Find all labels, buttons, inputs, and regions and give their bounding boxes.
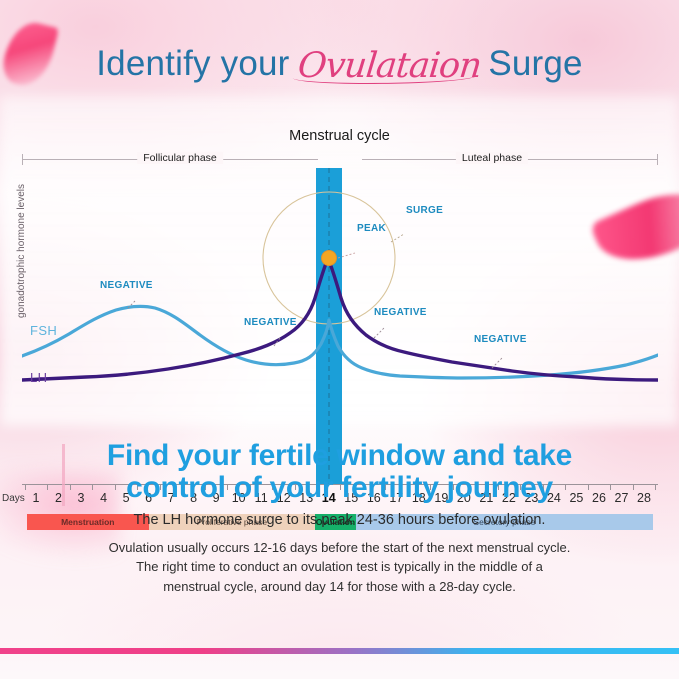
big-line-1: Find your fertile window and take bbox=[0, 440, 679, 472]
bottom-copy-block: Find your fertile window and take contro… bbox=[0, 440, 679, 596]
annotation-negative-4: NEGATIVE bbox=[474, 334, 527, 345]
phase-bracket-row: Follicular phase Luteal phase bbox=[22, 153, 658, 167]
big-line-2: control of your fertility journey bbox=[0, 472, 679, 504]
subtitle-primary: The LH hormone surge to its peak 24-36 h… bbox=[0, 512, 679, 528]
series-label-lh: LH bbox=[30, 370, 47, 385]
sub2-line-3: menstrual cycle, around day 14 for those… bbox=[0, 577, 679, 597]
chart-title: Menstrual cycle bbox=[0, 128, 679, 144]
annotation-surge: SURGE bbox=[406, 205, 443, 216]
annotation-negative-3: NEGATIVE bbox=[374, 307, 427, 318]
series-label-fsh: FSH bbox=[30, 323, 57, 338]
phase-label-luteal: Luteal phase bbox=[456, 152, 528, 164]
headline-script-word: Ovulataion bbox=[287, 46, 490, 86]
headline-part-2: Surge bbox=[488, 44, 582, 84]
headline-big: Find your fertile window and take contro… bbox=[0, 440, 679, 504]
chart-svg bbox=[22, 168, 658, 484]
y-axis-label: gonadotrophic hormone levels bbox=[16, 118, 27, 318]
phase-label-follicular: Follicular phase bbox=[137, 152, 223, 164]
subtitle-secondary: Ovulation usually occurs 12-16 days befo… bbox=[0, 538, 679, 597]
poster-root: Identify your Ovulataion Surge Menstrual… bbox=[0, 0, 679, 679]
menstrual-cycle-chart: Menstrual cycle Follicular phase Luteal … bbox=[0, 128, 679, 413]
leader-line-negative-lh-3 bbox=[492, 358, 502, 368]
annotation-negative-2: NEGATIVE bbox=[244, 317, 297, 328]
annotation-negative-1: NEGATIVE bbox=[100, 280, 153, 291]
bottom-fade-area bbox=[0, 654, 679, 679]
sub2-line-1: Ovulation usually occurs 12-16 days befo… bbox=[0, 538, 679, 558]
annotation-peak: PEAK bbox=[357, 223, 386, 234]
bracket-cap-right bbox=[657, 154, 658, 165]
headline-part-1: Identify your bbox=[96, 44, 289, 84]
chart-plot-area: gonadotrophic hormone levels FSH LH NEGA… bbox=[22, 168, 658, 478]
peak-marker-dot bbox=[322, 251, 337, 266]
leader-line-negative-lh-2 bbox=[374, 328, 384, 338]
sub2-line-2: The right time to conduct an ovulation t… bbox=[0, 557, 679, 577]
page-title: Identify your Ovulataion Surge bbox=[0, 36, 679, 92]
